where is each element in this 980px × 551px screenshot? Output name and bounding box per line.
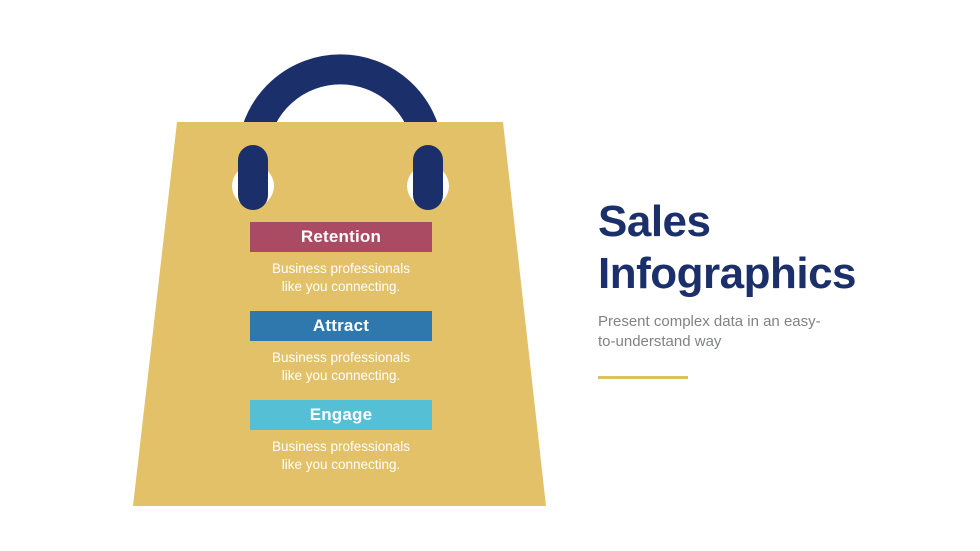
subtitle-line-2: to-understand way	[598, 332, 848, 352]
step-item-retention[interactable]: Retention Business professionals like yo…	[250, 222, 432, 296]
steps-list: Retention Business professionals like yo…	[250, 222, 432, 489]
subtitle-line-1: Present complex data in an easy-	[598, 312, 848, 332]
page-title: Sales Infographics	[598, 196, 928, 300]
step-description-line1: Business professionals	[250, 349, 432, 367]
step-description-line2: like you connecting.	[250, 456, 432, 474]
step-description-line2: like you connecting.	[250, 367, 432, 385]
title-line-1: Sales	[598, 196, 928, 248]
step-description-line1: Business professionals	[250, 260, 432, 278]
step-item-attract[interactable]: Attract Business professionals like you …	[250, 311, 432, 385]
step-description-line2: like you connecting.	[250, 278, 432, 296]
title-line-2: Infographics	[598, 248, 928, 300]
step-item-engage[interactable]: Engage Business professionals like you c…	[250, 400, 432, 474]
step-label-attract[interactable]: Attract	[250, 311, 432, 341]
step-description-attract: Business professionals like you connecti…	[250, 349, 432, 385]
step-label-retention[interactable]: Retention	[250, 222, 432, 252]
headline-block: Sales Infographics Present complex data …	[598, 196, 928, 379]
step-description-line1: Business professionals	[250, 438, 432, 456]
slide-canvas: Retention Business professionals like yo…	[0, 0, 980, 551]
step-label-engage[interactable]: Engage	[250, 400, 432, 430]
accent-rule	[598, 376, 688, 379]
step-description-retention: Business professionals like you connecti…	[250, 260, 432, 296]
step-description-engage: Business professionals like you connecti…	[250, 438, 432, 474]
page-subtitle: Present complex data in an easy- to-unde…	[598, 312, 848, 352]
